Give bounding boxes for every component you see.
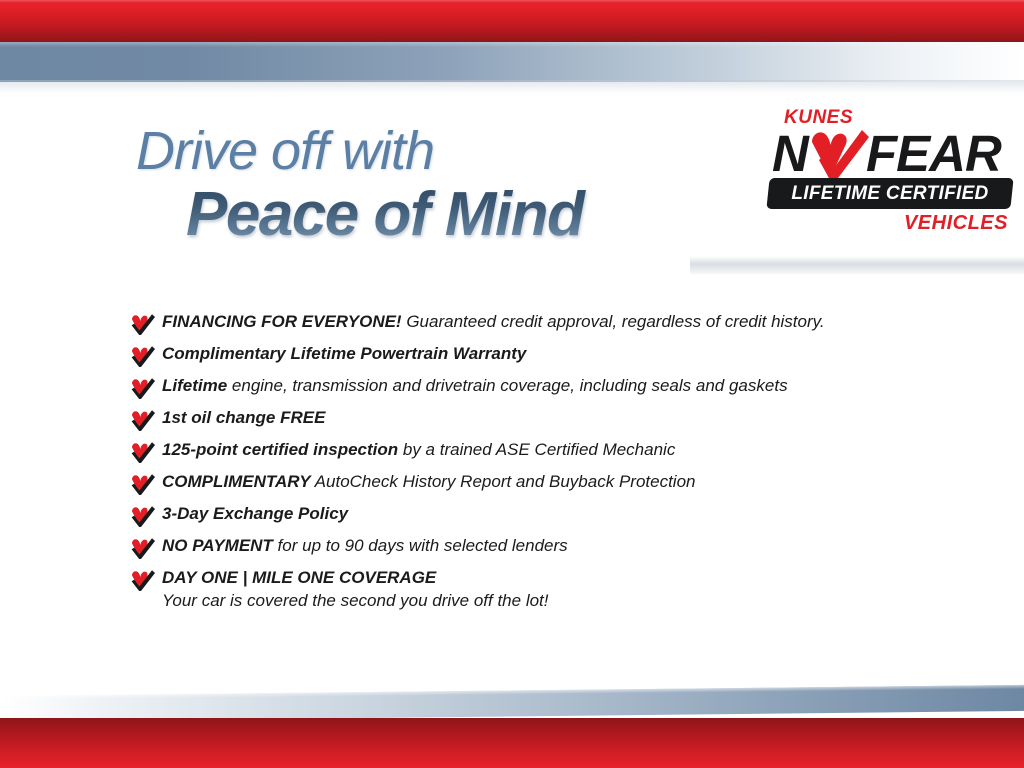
logo-bar-text: LIFETIME CERTIFIED (768, 178, 1012, 209)
list-item-strong: 1st oil change FREE (162, 408, 325, 427)
list-item-strong: Lifetime (162, 376, 227, 395)
kunes-no-fear-logo: KUNES N FEAR LIFETIME CERTIFIED VEHICLES (766, 108, 1014, 246)
list-item-text: 3-Day Exchange Policy (162, 502, 348, 526)
heart-check-icon (808, 128, 870, 182)
list-item-strong: 125-point certified inspection (162, 440, 398, 459)
list-item: Lifetime engine, transmission and drivet… (130, 374, 930, 406)
top-banner (0, 0, 1024, 82)
top-banner-fade (0, 80, 1024, 94)
list-item-strong: Complimentary Lifetime Powertrain Warran… (162, 344, 526, 363)
logo-nofear-wordmark: N FEAR (766, 126, 1014, 182)
list-item: NO PAYMENT for up to 90 days with select… (130, 534, 930, 566)
list-item-strong: 3-Day Exchange Policy (162, 504, 348, 523)
heart-check-bullet-icon (130, 345, 156, 367)
list-item: DAY ONE | MILE ONE COVERAGE Your car is … (130, 566, 930, 616)
headline-divider-band (690, 256, 1024, 274)
list-item-subline: Your car is covered the second you drive… (162, 589, 549, 613)
heart-check-bullet-icon (130, 409, 156, 431)
list-item: 125-point certified inspection by a trai… (130, 438, 930, 470)
list-item-strong: COMPLIMENTARY (162, 472, 311, 491)
heart-check-bullet-icon (130, 505, 156, 527)
headline: Drive off with Peace of Mind (136, 122, 736, 248)
list-item: Complimentary Lifetime Powertrain Warran… (130, 342, 930, 374)
bottom-red-bar (0, 718, 1024, 768)
heart-check-bullet-icon (130, 377, 156, 399)
list-item: 1st oil change FREE (130, 406, 930, 438)
list-item: FINANCING FOR EVERYONE! Guaranteed credi… (130, 310, 930, 342)
top-red-highlight (0, 0, 1024, 3)
list-item: COMPLIMENTARY AutoCheck History Report a… (130, 470, 930, 502)
list-item-rest: engine, transmission and drivetrain cove… (227, 376, 787, 395)
list-item-text: DAY ONE | MILE ONE COVERAGE (162, 566, 436, 590)
heart-check-bullet-icon (130, 473, 156, 495)
logo-vehicles-text: VEHICLES (904, 212, 1008, 234)
top-slate-sheen (0, 42, 1024, 47)
list-item-text: COMPLIMENTARY AutoCheck History Report a… (162, 470, 695, 494)
list-item-text: 125-point certified inspection by a trai… (162, 438, 675, 462)
headline-line-2: Peace of Mind (186, 182, 736, 248)
heart-check-bullet-icon (130, 569, 156, 591)
list-item: 3-Day Exchange Policy (130, 502, 930, 534)
heart-check-bullet-icon (130, 441, 156, 463)
top-red-bar (0, 0, 1024, 42)
list-item-strong: FINANCING FOR EVERYONE! (162, 312, 402, 331)
list-item-rest: AutoCheck History Report and Buyback Pro… (311, 472, 696, 491)
heart-check-bullet-icon (130, 313, 156, 335)
list-item-text: Lifetime engine, transmission and drivet… (162, 374, 788, 398)
list-item-strong: DAY ONE | MILE ONE COVERAGE (162, 568, 436, 587)
list-item-strong: NO PAYMENT (162, 536, 273, 555)
headline-line-1: Drive off with (136, 122, 736, 180)
list-item-rest: for up to 90 days with selected lenders (273, 536, 568, 555)
logo-letter-n: N (772, 126, 807, 182)
heart-check-bullet-icon (130, 537, 156, 559)
logo-letters-fear: FEAR (866, 126, 1001, 182)
benefits-list: FINANCING FOR EVERYONE! Guaranteed credi… (130, 310, 930, 616)
top-slate-bar (0, 42, 1024, 82)
list-item-text: 1st oil change FREE (162, 406, 325, 430)
list-item-text: FINANCING FOR EVERYONE! Guaranteed credi… (162, 310, 825, 334)
list-item-text: Complimentary Lifetime Powertrain Warran… (162, 342, 526, 366)
bottom-banner (0, 682, 1024, 768)
list-item-text: NO PAYMENT for up to 90 days with select… (162, 534, 568, 558)
list-item-rest: Guaranteed credit approval, regardless o… (402, 312, 825, 331)
list-item-rest: by a trained ASE Certified Mechanic (398, 440, 675, 459)
